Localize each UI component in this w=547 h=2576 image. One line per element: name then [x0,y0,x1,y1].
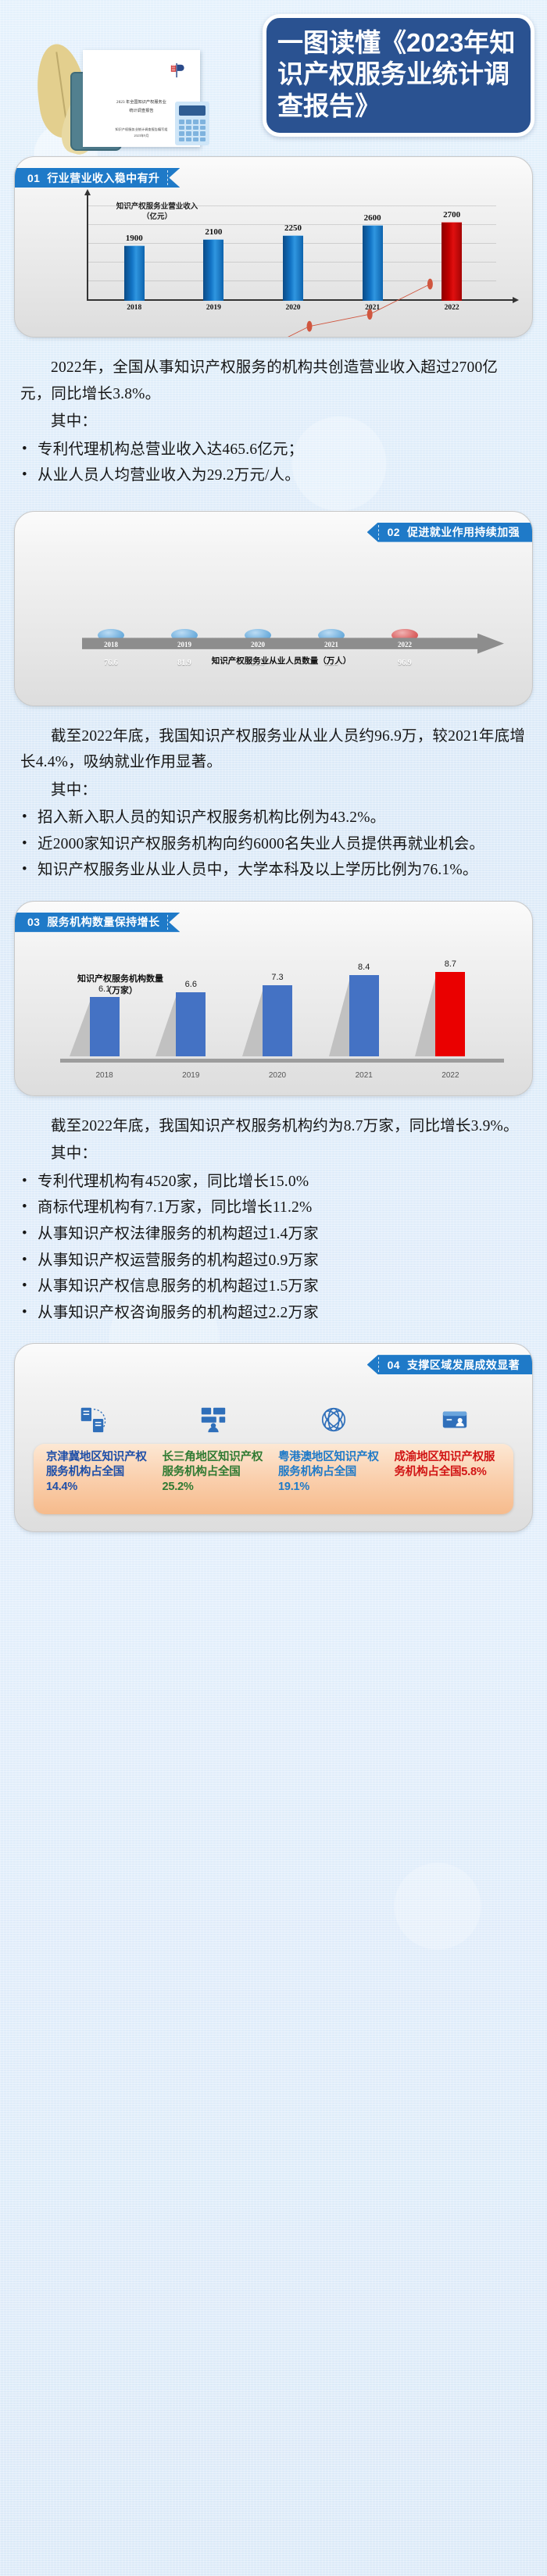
section-number-02: 02 [388,526,400,538]
section-card-01: 01 行业营业收入稳中有升 知识产权服务业营业收入 （亿元） 190021002… [14,156,533,338]
chart2-category-label: 2021 [318,641,345,648]
list-item: 专利代理机构总营业收入达465.6亿元； [20,437,527,463]
chart1-bar-value: 2250 [284,223,302,233]
chart3-category-label: 2019 [153,1071,229,1080]
chart3-bar-value: 6.1 [98,984,110,994]
chart3-category-label: 2022 [413,1071,488,1080]
chart3-bar-slot: 8.7 [413,952,488,1056]
section-ribbon-02: 02 促进就业作用持续加强 [367,523,533,542]
chart1-category-label: 2019 [180,304,247,318]
chart3-bar [435,972,465,1056]
chart3-category-label: 2020 [239,1071,315,1080]
region-card-chengyu: 成渝地区知识产权服务机构占全国5.8% [390,1450,506,1506]
chart1-bar-slot: 2700 [418,205,485,301]
chart1-plot-area: 19002100225026002700 [87,205,496,301]
chart2-category-label: 2022 [391,641,418,648]
list-item: 从业人员人均营业收入为29.2万元/人。 [20,463,527,489]
block2-paragraph: 截至2022年底，我国知识产权服务业从业人员约96.9万，较2021年底增长4.… [20,723,527,776]
chart1-category-label: 2020 [259,304,327,318]
region-card-yangtze-delta: 长三角地区知识产权服务机构占全国25.2% [158,1450,274,1506]
list-item: 从事知识产权咨询服务的机构超过2.2万家 [20,1300,527,1327]
chart3-bar [349,975,379,1056]
region-card-jingjinji: 京津冀地区知识产权服务机构占全国14.4% [41,1450,158,1506]
block3-qizhong: 其中： [20,1141,527,1167]
chart1-bar-slot: 2250 [259,205,327,301]
list-item: 知识产权服务业从业人员中，大学本科及以上学历比例为76.1%。 [20,857,527,884]
page-title: 一图读懂《2023年知识产权服务业统计调查报告》 [277,27,520,122]
chart1-bar-value: 1900 [126,234,143,243]
chart3-bar-value: 7.3 [271,973,283,982]
list-item: 专利代理机构有4520家，同比增长15.0% [20,1169,527,1195]
chart3-category-labels: 20182019202020212022 [66,1071,488,1080]
text-block-01: 2022年，全国从事知识产权服务的机构共创造营业收入超过2700亿元，同比增长3… [0,338,547,494]
chart1-bar-value: 2100 [205,227,222,237]
block1-paragraph: 2022年，全国从事知识产权服务的机构共创造营业收入超过2700亿元，同比增长3… [20,355,527,407]
section-number-03: 03 [27,916,40,928]
list-item: 招入新入职人员的知识产权服务机构比例为43.2%。 [20,805,527,831]
block2-bullet-list: 招入新入职人员的知识产权服务机构比例为43.2%。 近2000家知识产权服务机构… [20,805,527,884]
section-card-04: 04 支撑区域发展成效显著 [14,1343,533,1532]
main-title-box: 一图读懂《2023年知识产权服务业统计调查报告》 [263,14,534,137]
chart3-bar-slot: 7.3 [239,952,315,1056]
chart2-category-label: 2018 [98,641,124,648]
id-card-icon [440,1405,470,1434]
chart3-category-label: 2018 [66,1071,142,1080]
chart2-category-labels: 20182019202020212022 [98,637,418,652]
chart1-bar-slot: 2100 [180,205,247,301]
list-item: 近2000家知识产权服务机构向约6000名失业人员提供再就业机会。 [20,831,527,858]
text-block-02: 截至2022年底，我国知识产权服务业从业人员约96.9万，较2021年底增长4.… [0,706,547,888]
list-item: 从事知识产权信息服务的机构超过1.5万家 [20,1274,527,1300]
chart2-caption: 知识产权服务业从业人员数量（万人） [51,655,512,666]
chart3-bar [263,985,292,1056]
chart3-bar [90,997,120,1056]
chart1-bar-value: 2700 [443,210,460,220]
section-number-04: 04 [388,1359,400,1371]
chart1-bar [283,235,303,301]
chart1-bars: 19002100225026002700 [87,205,496,301]
chart1-category-label: 2018 [101,304,168,318]
chart2-plot-area: 76.681.986.592.896.9 2018201920202021202… [51,557,512,671]
infographic-page: 2023 年全国知识产权服务业 统计调查报告 知识产权服务业统计调查报告编写组 … [0,0,547,1549]
block3-bullet-list: 专利代理机构有4520家，同比增长15.0% 商标代理机构有7.1万家，同比增长… [20,1169,527,1326]
chart3-bar-slot: 6.6 [153,952,229,1056]
chart3-bar-slot: 8.4 [326,952,402,1056]
chart3-bars: 6.16.67.38.48.7 [66,952,488,1056]
section-number-01: 01 [27,172,40,184]
globe-network-icon [319,1405,349,1434]
chart3-bar-slot: 6.1 [66,952,142,1056]
cnipa-logo-icon [169,63,186,78]
section-ribbon-03: 03 服务机构数量保持增长 [14,913,180,932]
block3-paragraph: 截至2022年底，我国知识产权服务机构约为8.7万家，同比增长3.9%。 [20,1113,527,1140]
section-title-02: 促进就业作用持续加强 [407,524,520,540]
list-item: 从事知识产权法律服务的机构超过1.4万家 [20,1221,527,1248]
page-header: 2023 年全国知识产权服务业 统计调查报告 知识产权服务业统计调查报告编写组 … [0,0,547,156]
chart1-bar [442,222,462,301]
region-stats-panel: 京津冀地区知识产权服务机构占全国14.4% 长三角地区知识产权服务机构占全国25… [34,1444,513,1514]
chart1-bar-slot: 1900 [101,205,168,301]
hero-illustration: 2023 年全国知识产权服务业 统计调查报告 知识产权服务业统计调查报告编写组 … [22,14,256,151]
section-card-02: 02 促进就业作用持续加强 76.681.986.592.896.9 20182… [14,511,533,706]
chart1-category-labels: 20182019202020212022 [87,304,496,318]
chart3-bar-value: 6.6 [185,980,197,989]
section-ribbon-01: 01 行业营业收入稳中有升 [14,168,180,188]
block1-qizhong: 其中： [20,409,527,435]
chart1-bar [363,225,383,301]
section-card-03: 03 服务机构数量保持增长 知识产权服务机构数量 （万家） 6.16.67.38… [14,901,533,1096]
section-title-03: 服务机构数量保持增长 [47,914,159,930]
section-title-04: 支撑区域发展成效显著 [407,1357,520,1373]
block1-bullet-list: 专利代理机构总营业收入达465.6亿元； 从业人员人均营业收入为29.2万元/人… [20,437,527,489]
chart3-category-label: 2021 [326,1071,402,1080]
workstation-icon [198,1405,228,1434]
region-card-greater-bay-area: 粤港澳地区知识产权服务机构占全国19.1% [273,1450,390,1506]
chart1-bar-value: 2600 [364,213,381,223]
chart2-category-label: 2020 [245,641,271,648]
text-block-03: 截至2022年底，我国知识产权服务机构约为8.7万家，同比增长3.9%。 其中：… [0,1096,547,1331]
chart2-category-label: 2019 [171,641,198,648]
chart2-bars: 76.681.986.592.896.9 [98,557,418,635]
region-icon-row [32,1402,515,1438]
calculator-icon [175,102,209,145]
chart3-bar-value: 8.4 [358,963,370,972]
list-item: 从事知识产权运营服务的机构超过0.9万家 [20,1248,527,1274]
chart1-bar [203,239,223,301]
chart3-bar-value: 8.7 [445,959,456,969]
documents-icon [77,1405,107,1434]
section-ribbon-04: 04 支撑区域发展成效显著 [367,1355,533,1374]
chart1-category-label: 2022 [418,304,485,318]
section-title-01: 行业营业收入稳中有升 [47,170,159,186]
chart1-bar [124,245,145,301]
block2-qizhong: 其中： [20,777,527,804]
chart1-bar-slot: 2600 [338,205,406,301]
chart3-bar [176,992,206,1056]
chart3-baseline [60,1059,504,1063]
list-item: 商标代理机构有7.1万家，同比增长11.2% [20,1195,527,1221]
chart1-category-label: 2021 [338,304,406,318]
